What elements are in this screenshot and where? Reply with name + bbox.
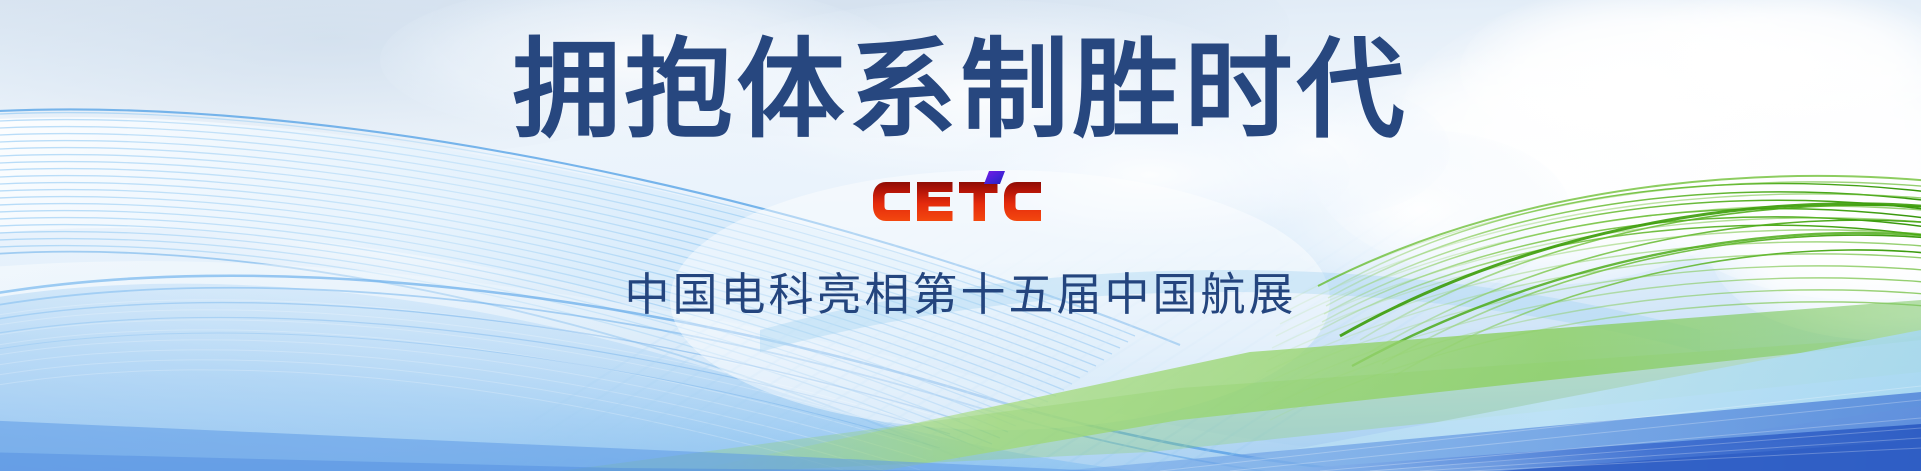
cetc-logo-svg xyxy=(871,170,1051,232)
banner-content: 拥抱体系制胜时代 xyxy=(0,0,1921,471)
cetc-airshow-banner: 拥抱体系制胜时代 xyxy=(0,0,1921,471)
cetc-accent-parallelogram-icon xyxy=(984,171,1005,184)
banner-headline: 拥抱体系制胜时代 xyxy=(512,34,1408,148)
cetc-logo xyxy=(871,170,1051,232)
banner-subtitle: 中国电科亮相第十五届中国航展 xyxy=(624,258,1296,323)
cetc-letterforms xyxy=(873,182,1041,221)
